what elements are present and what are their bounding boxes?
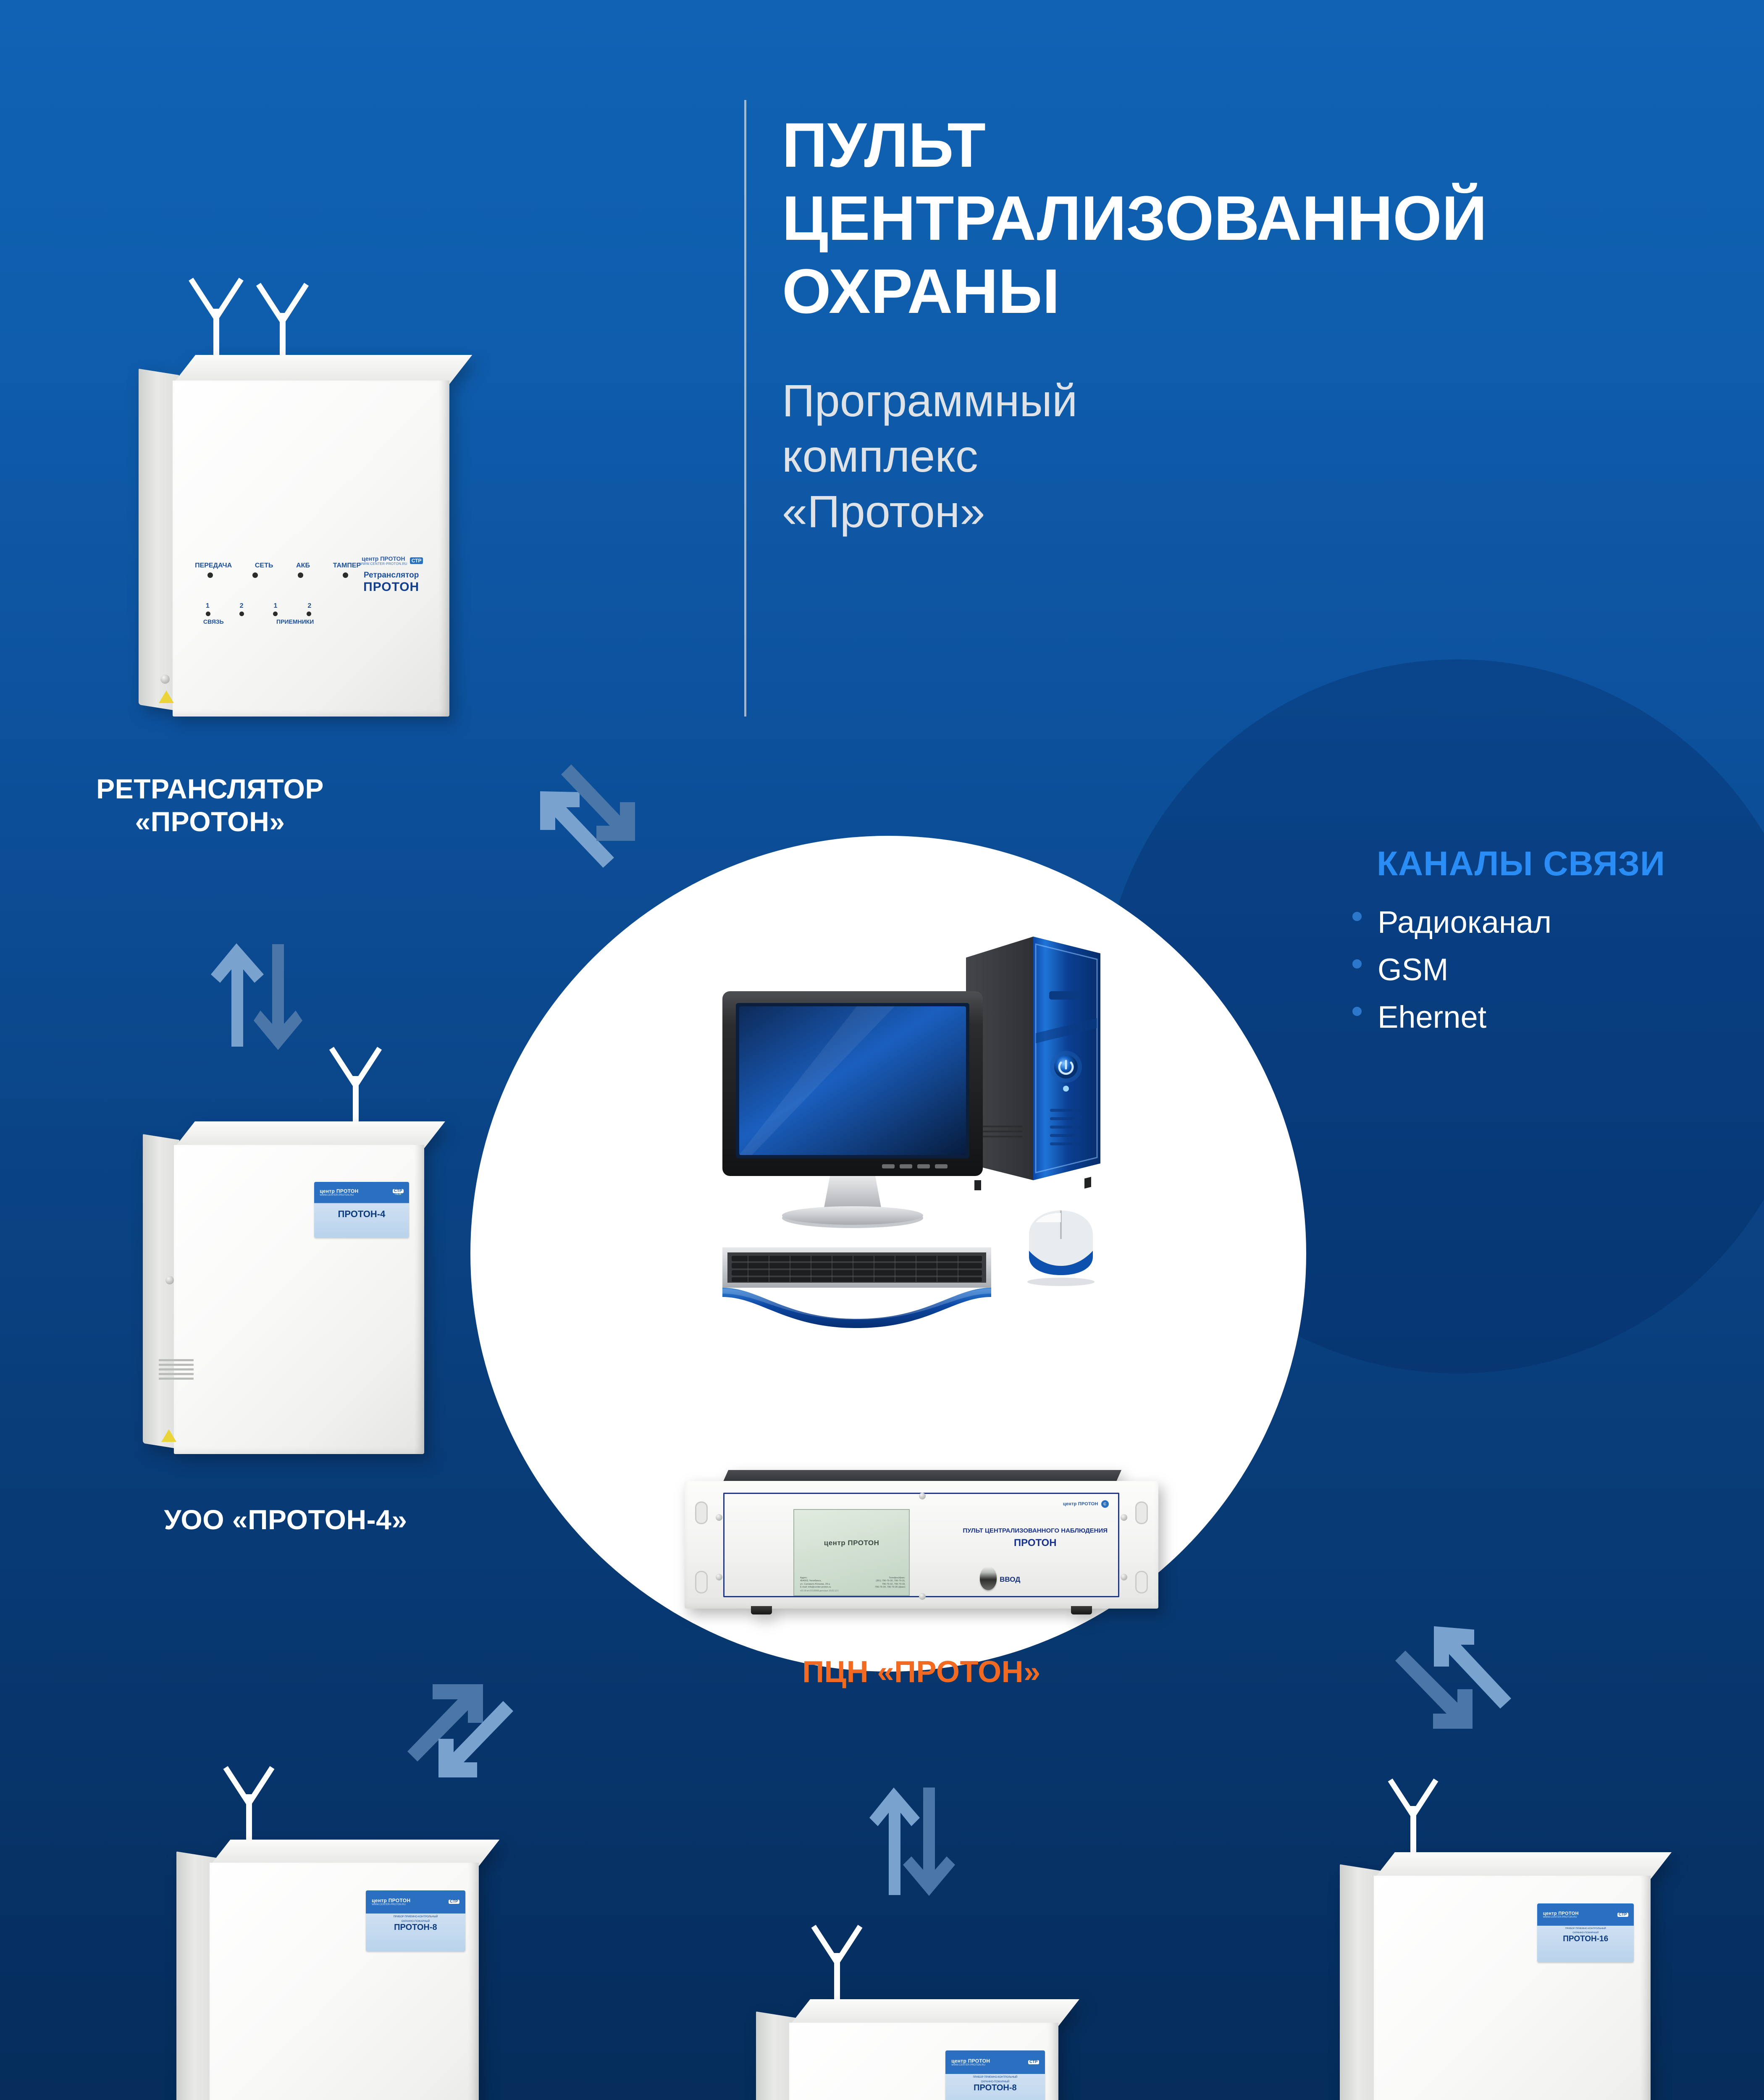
device-model-label: ПРОТОН-8: [366, 1923, 465, 1932]
led-label-set: СЕТЬ: [255, 562, 273, 570]
subtitle-line-1: Программный: [782, 373, 1698, 428]
comm-channel-label: Ehernet: [1378, 996, 1486, 1038]
lcd-address-heading: Адрес:: [800, 1577, 808, 1580]
brand-name: центр ПРОТОН: [360, 555, 407, 562]
led-dot: [252, 572, 258, 578]
rack-mount-slot: [1135, 1501, 1148, 1524]
brand-name: центр ПРОТОН: [1543, 1911, 1579, 1916]
certification-badge: СТР: [1028, 2060, 1039, 2064]
brand-name: центр ПРОТОН: [372, 1898, 410, 1903]
device-model-label: ПРОТОН-16: [1537, 1935, 1634, 1944]
brand-name: центр ПРОТОН: [1063, 1501, 1098, 1507]
comm-channels-title: КАНАЛЫ СВЯЗИ: [1377, 844, 1730, 884]
led-number: 1: [274, 602, 278, 610]
title-divider-line: [744, 100, 746, 717]
device-retranslator: ПЕРЕДАЧА СЕТЬ АКБ ТАМПЕР 1: [139, 355, 449, 720]
caption-line-1: РЕТРАНСЛЯТОР: [55, 773, 365, 806]
subtitle-line-2: комплекс: [782, 428, 1698, 484]
device-brand-block: центр ПРОТОН WWW.CENTER-PROTON.RU СТР Ре…: [350, 555, 433, 594]
device-model-label: ПРОТОН-4: [314, 1203, 409, 1220]
title-line-1: ПУЛЬТ: [782, 108, 1698, 181]
arrow-pair-proton16: [1386, 1596, 1562, 1772]
arrow-up-icon: [869, 1788, 920, 1895]
sticker-subtitle-2: ОХРАННО-ПОЖАРНЫЙ: [945, 2079, 1045, 2083]
sticker-subtitle-1: ПРИБОР ПРИЕМНО-КОНТРОЛЬНЫЙ: [366, 1914, 465, 1918]
page-subtitle: Программный комплекс «Протон»: [782, 373, 1698, 539]
device-proton-16: центр ПРОТОН WWW.CENTER-PROTON.RU СТР ПР…: [1340, 1852, 1651, 2100]
screw-icon: [919, 1493, 926, 1499]
pcn-lcd-logo: центр ПРОТОН: [801, 1520, 902, 1566]
bullet-dot-icon: [1352, 959, 1362, 969]
certification-sub: ПБ16: [393, 1193, 404, 1196]
lcd-address-line-3: E-mail: info@center-proton.ru: [800, 1586, 831, 1589]
rack-mount-slot: [695, 1501, 708, 1524]
arrow-pair-retranslator: [521, 752, 697, 920]
screw-icon: [1121, 1574, 1127, 1580]
caption-retranslator: РЕТРАНСЛЯТОР «ПРОТОН»: [55, 773, 365, 838]
certification-badge: СТР: [393, 1189, 404, 1193]
rack-mount-slot: [1135, 1571, 1148, 1593]
device-type-label: Ретранслятор: [350, 571, 433, 580]
led-dot: [239, 612, 244, 616]
comm-channel-item: Ehernet: [1352, 996, 1730, 1038]
lcd-phone-line-1: (351) 796-79-30, 796-79-31,: [876, 1580, 905, 1583]
product-sticker: центр ПРОТОН WWW.CENTER-PROTON.RU СТР ПР…: [945, 2050, 1045, 2100]
device-model-label: ПРОТОН-8: [945, 2083, 1045, 2093]
arrow-up-icon: [211, 943, 264, 1047]
warning-triangle-icon: [161, 1429, 176, 1442]
comm-channel-label: GSM: [1378, 949, 1449, 990]
screw-icon: [1121, 1514, 1127, 1521]
pcn-brand-block: центр ПРОТОН С: [1063, 1500, 1109, 1508]
device-front-panel: центр ПРОТОН WWW.CENTER-PROTON.RU СТР ПР…: [1374, 1876, 1651, 2100]
comm-channels-block: КАНАЛЫ СВЯЗИ Радиоканал GSM Ehernet: [1352, 844, 1730, 1044]
brand-url: WWW.CENTER-PROTON.RU: [951, 2064, 990, 2066]
brand-name: центр ПРОТОН: [951, 2058, 990, 2064]
led-dot: [298, 572, 303, 578]
computer-workstation-illustration: [697, 928, 1159, 1361]
led-group-svyaz: СВЯЗЬ: [203, 618, 224, 625]
lcd-phone-line-3: 796-79-34, 796-79-35 (факс): [875, 1586, 905, 1589]
device-proton-4: центр ПРОТОН WWW.CENTER-PROTON.RU СТР ПБ…: [143, 1121, 424, 1457]
certification-badge: СТР: [410, 557, 423, 564]
product-sticker: центр ПРОТОН WWW.CENTER-PROTON.RU СТР ПБ…: [314, 1182, 409, 1237]
screw-icon: [160, 675, 170, 684]
brand-url: WWW.CENTER-PROTON.RU: [1543, 1916, 1579, 1919]
led-number: 2: [307, 602, 311, 610]
certification-badge: СТР: [449, 1900, 459, 1904]
lcd-address-line-2: ул. Салавата Юлаева, 29-а: [800, 1583, 830, 1586]
pcn-knob-label: ВВОД: [1000, 1575, 1020, 1584]
rack-foot: [751, 1606, 772, 1614]
device-top-panel: [789, 1999, 1079, 2026]
comm-channel-item: GSM: [1352, 949, 1730, 990]
bullet-dot-icon: [1352, 1007, 1362, 1016]
led-dot: [273, 612, 278, 616]
product-sticker: центр ПРОТОН WWW.CENTER-PROTON.RU СТР ПР…: [366, 1890, 465, 1951]
led-legend-row-1: ПЕРЕДАЧА СЕТЬ АКБ ТАМПЕР: [195, 562, 361, 578]
keyboard-icon: [722, 1247, 991, 1328]
title-block: ПУЛЬТ ЦЕНТРАЛИЗОВАННОЙ ОХРАНЫ Программны…: [782, 108, 1698, 539]
screw-icon: [165, 1276, 174, 1284]
device-front-panel: центр ПРОТОН WWW.CENTER-PROTON.RU СТР ПР…: [210, 1863, 479, 2100]
pc-tower-icon: [964, 937, 1100, 1190]
mouse-icon: [1027, 1210, 1095, 1286]
device-front-panel: центр ПРОТОН WWW.CENTER-PROTON.RU СТР ПР…: [789, 2023, 1058, 2100]
led-group-priemniki: ПРИЕМНИКИ: [276, 618, 314, 625]
comm-channel-item: Радиоканал: [1352, 901, 1730, 943]
rack-mount-slot: [695, 1571, 708, 1593]
product-sticker: центр ПРОТОН WWW.CENTER-PROTON.RU СТР ПР…: [1537, 1903, 1634, 1962]
caption-proton-4: УОО «ПРОТОН-4»: [130, 1504, 441, 1536]
monitor-icon: [722, 991, 983, 1228]
bullet-dot-icon: [1352, 912, 1362, 921]
brand-url: WWW.CENTER-PROTON.RU: [372, 1903, 410, 1906]
pcn-title-block: ПУЛЬТ ЦЕНТРАЛИЗОВАННОГО НАБЛЮДЕНИЯ ПРОТО…: [921, 1527, 1149, 1549]
brand-url: WWW.CENTER-PROTON.RU: [360, 562, 407, 566]
device-top-panel: [174, 1121, 445, 1148]
screw-icon: [919, 1593, 926, 1600]
led-number: 1: [206, 602, 210, 610]
led-number: 2: [240, 602, 244, 610]
rack-front-panel: центр ПРОТОН Адрес: Телефон/факс: 454003…: [685, 1481, 1158, 1609]
lcd-address-line-1: 454003, Челябинск,: [800, 1580, 822, 1583]
device-pcn-proton: центр ПРОТОН Адрес: Телефон/факс: 454003…: [669, 1470, 1173, 1609]
led-dot: [343, 572, 348, 578]
device-proton-8-center: центр ПРОТОН WWW.CENTER-PROTON.RU СТР ПР…: [756, 1999, 1058, 2100]
device-top-panel: [1374, 1852, 1672, 1879]
device-top-panel: [210, 1840, 499, 1866]
lcd-phone-line-2: 796-79-32, 796-79-33,: [882, 1583, 906, 1586]
certification-badge: СТР: [1617, 1913, 1628, 1917]
arrow-pair-proton4: [176, 916, 302, 1054]
device-top-panel: [173, 355, 472, 384]
pcn-title-line-2: ПРОТОН: [921, 1537, 1149, 1549]
led-dot: [207, 572, 213, 578]
poster-canvas: ПУЛЬТ ЦЕНТРАЛИЗОВАННОЙ ОХРАНЫ Программны…: [0, 0, 1764, 2100]
device-front-panel: центр ПРОТОН WWW.CENTER-PROTON.RU СТР ПБ…: [174, 1145, 424, 1454]
screw-icon: [716, 1574, 722, 1580]
arrow-pair-proton8-center: [853, 1760, 979, 1903]
arrow-pair-proton8-left: [391, 1613, 567, 1789]
ventilation-slots: [159, 1359, 194, 1380]
led-dot: [307, 612, 311, 616]
brand-name: центр ПРОТОН: [320, 1188, 358, 1194]
caption-pcn: ПЦН «ПРОТОН»: [669, 1655, 1173, 1689]
title-line-2: ЦЕНТРАЛИЗОВАННОЙ: [782, 181, 1698, 255]
arrow-down-icon: [903, 1788, 955, 1896]
rack-foot: [1071, 1606, 1092, 1614]
pcn-title-line-1: ПУЛЬТ ЦЕНТРАЛИЗОВАННОГО НАБЛЮДЕНИЯ: [921, 1527, 1149, 1535]
lcd-phone-heading: Телефон/факс:: [889, 1577, 905, 1580]
device-front-panel: ПЕРЕДАЧА СЕТЬ АКБ ТАМПЕР 1: [173, 381, 449, 717]
subtitle-line-3: «Протон»: [782, 484, 1698, 539]
page-title: ПУЛЬТ ЦЕНТРАЛИЗОВАННОЙ ОХРАНЫ: [782, 108, 1698, 328]
screw-icon: [716, 1514, 722, 1521]
pcn-info-plate: центр ПРОТОН Адрес: Телефон/факс: 454003…: [793, 1509, 909, 1596]
led-legend-row-2: 1 2 1 2 СВЯЗЬ ПРИЕМНИКИ: [203, 602, 314, 625]
sticker-subtitle-2: ОХРАННО-ПОЖАРНЫЙ: [1537, 1930, 1634, 1935]
sticker-subtitle-1: ПРИБОР ПРИЕМНО-КОНТРОЛЬНЫЙ: [945, 2074, 1045, 2079]
brand-url: WWW.CENTER-PROTON.RU: [320, 1194, 358, 1197]
title-line-3: ОХРАНЫ: [782, 255, 1698, 328]
device-proton-8-left: центр ПРОТОН WWW.CENTER-PROTON.RU СТР ПР…: [176, 1840, 479, 2100]
led-dot: [206, 612, 210, 616]
device-model-label: ПРОТОН: [350, 580, 433, 594]
comm-channel-label: Радиоканал: [1378, 901, 1551, 943]
pcn-input-knob[interactable]: [980, 1567, 997, 1590]
sticker-subtitle-1: ПРИБОР ПРИЕМНО-КОНТРОЛЬНЫЙ: [1537, 1926, 1634, 1930]
caption-line-2: «ПРОТОН»: [55, 806, 365, 838]
lcd-version-line: v01.09 s/n:53130008 дата вып.:15.02.13 3: [800, 1590, 906, 1593]
led-label-akb: АКБ: [296, 562, 310, 570]
arrow-down-icon: [254, 944, 302, 1050]
led-label-peredacha: ПЕРЕДАЧА: [195, 562, 232, 570]
certification-badge: С: [1101, 1500, 1109, 1508]
sticker-subtitle-2: ОХРАННО-ПОЖАРНЫЙ: [366, 1918, 465, 1923]
warning-triangle-icon: [159, 690, 174, 703]
